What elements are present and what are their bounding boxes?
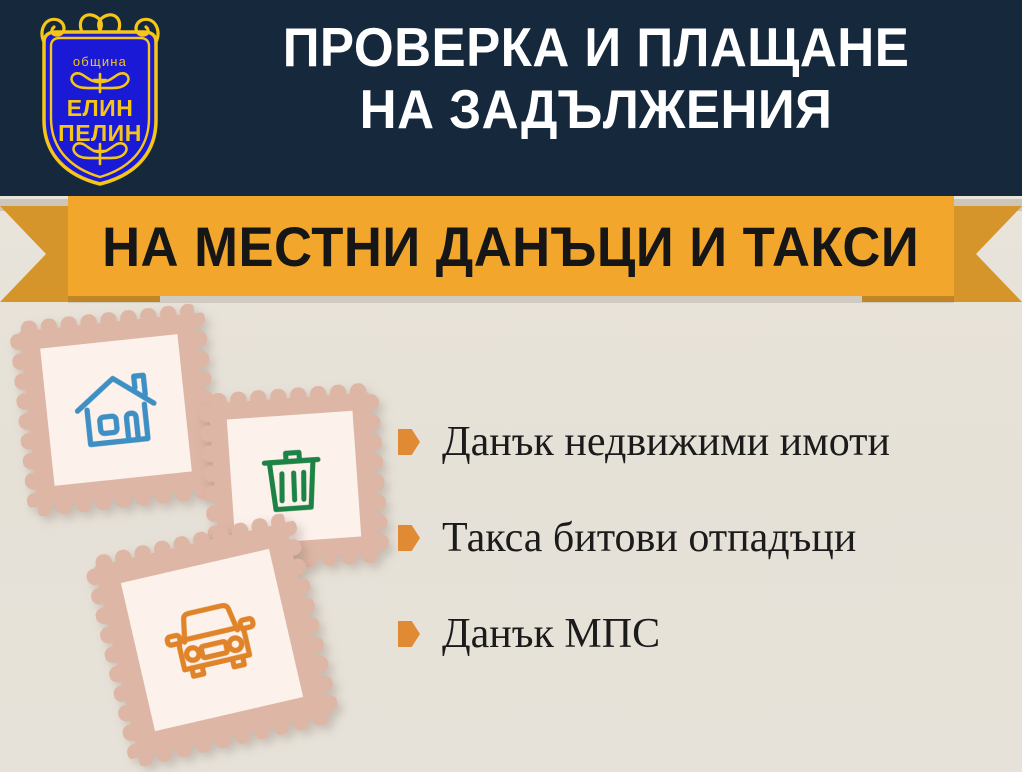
list-item[interactable]: Данък МПС — [398, 612, 1010, 656]
title-line-1: ПРОВЕРКА И ПЛАЩАНЕ — [215, 16, 978, 78]
arrow-bullet-icon — [398, 429, 420, 455]
poster-header: община ЕЛИН ПЕЛИН ПРОВЕРКА И ПЛАЩАНЕ НА … — [0, 0, 1022, 196]
arrow-bullet-icon — [398, 621, 420, 647]
crest-svg: община ЕЛИН ПЕЛИН — [24, 8, 176, 190]
poster-canvas: община ЕЛИН ПЕЛИН ПРОВЕРКА И ПЛАЩАНЕ НА … — [0, 0, 1022, 772]
list-item[interactable]: Такса битови отпадъци — [398, 516, 1010, 560]
stamp-card-property — [19, 313, 212, 506]
trash-bin-icon — [249, 433, 339, 523]
house-icon — [63, 357, 169, 463]
list-item-label: Данък недвижими имоти — [442, 420, 890, 464]
car-icon — [150, 578, 275, 703]
municipality-crest: община ЕЛИН ПЕЛИН — [24, 8, 176, 190]
stamp-paper — [40, 334, 192, 486]
tax-type-list: Данък недвижими имоти Такса битови отпад… — [398, 420, 1010, 708]
title-line-2: НА ЗАДЪЛЖЕНИЯ — [215, 78, 978, 140]
list-item-label: Данък МПС — [442, 612, 660, 656]
arrow-bullet-icon — [398, 525, 420, 551]
crest-name-line1: ЕЛИН — [67, 95, 134, 121]
stamp-card-vehicle — [94, 522, 329, 757]
poster-title: ПРОВЕРКА И ПЛАЩАНЕ НА ЗАДЪЛЖЕНИЯ — [186, 16, 1006, 140]
crest-name-line2: ПЕЛИН — [58, 120, 142, 146]
ribbon-banner: НА МЕСТНИ ДАНЪЦИ И ТАКСИ — [0, 196, 1022, 312]
list-item-label: Такса битови отпадъци — [442, 516, 856, 560]
crest-municipality-word: община — [73, 54, 127, 69]
list-item[interactable]: Данък недвижими имоти — [398, 420, 1010, 464]
ribbon-main-panel: НА МЕСТНИ ДАНЪЦИ И ТАКСИ — [68, 196, 954, 296]
ribbon-label: НА МЕСТНИ ДАНЪЦИ И ТАКСИ — [102, 214, 919, 279]
